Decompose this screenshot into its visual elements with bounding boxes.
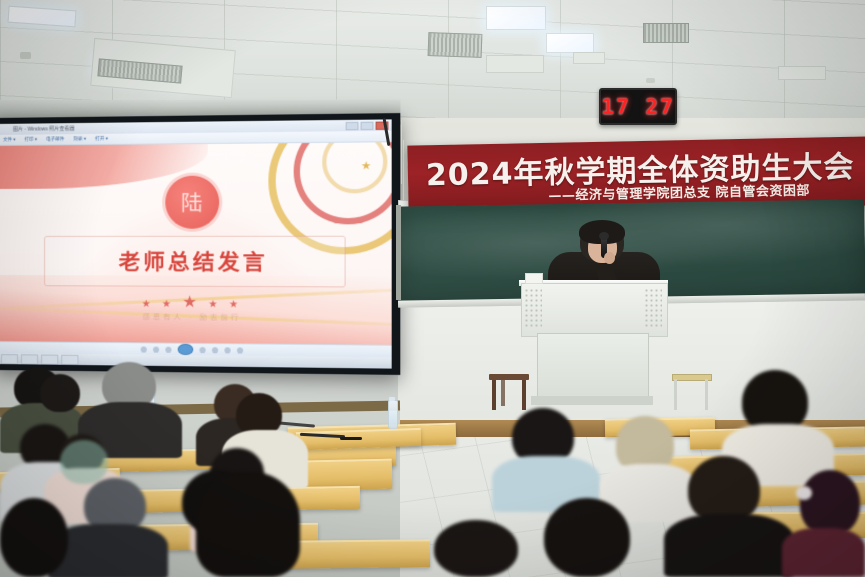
fit-to-window-icon[interactable]	[153, 346, 159, 352]
delete-icon[interactable]	[237, 347, 243, 353]
desk-pen	[340, 437, 362, 440]
podium-base	[531, 396, 653, 405]
menu-item-print[interactable]: 打印 ▾	[25, 137, 38, 143]
slide-badge-char: 陆	[181, 187, 203, 218]
bottle-cap	[389, 397, 395, 401]
window-controls	[346, 122, 389, 131]
desk-row	[280, 539, 430, 569]
slide-corner-star-icon: ★	[361, 159, 372, 173]
chalkboard-left-edge	[396, 205, 401, 300]
ceiling-tile	[778, 66, 826, 80]
rotate-left-icon[interactable]	[212, 347, 218, 353]
metal-frame-stool	[672, 374, 710, 410]
photo-viewer-title: 图片 - Windows 照片查看器	[13, 125, 75, 133]
audience-head	[40, 374, 80, 412]
menu-item-file[interactable]: 文件 ▾	[3, 137, 16, 143]
slideshow-play-button[interactable]	[178, 344, 194, 355]
audience-shoulders	[664, 514, 794, 577]
projected-slide: 图片 - Windows 照片查看器 文件 ▾ 打印 ▾ 电子邮件 刻录 ▾ 打…	[0, 119, 392, 368]
podium-item	[525, 273, 543, 284]
audience-head	[434, 520, 518, 577]
taskbar-item[interactable]	[21, 354, 38, 364]
water-bottle	[388, 400, 398, 429]
podium-speaker-grille	[524, 288, 542, 328]
slide-title: 老师总结发言	[119, 246, 268, 277]
ceiling-light-panel	[486, 6, 546, 30]
podium-lower-panel	[537, 333, 649, 400]
clock-time-digits: 17 27	[601, 95, 674, 119]
smoke-detector	[646, 78, 655, 83]
menu-item-burn[interactable]: 刻录 ▾	[73, 136, 86, 142]
microphone-head	[599, 232, 609, 240]
zoom-icon[interactable]	[141, 346, 147, 352]
ceiling-light-panel	[546, 33, 594, 53]
smoke-detector	[20, 52, 31, 59]
podium-speaker-grille	[644, 288, 662, 328]
slide-canvas: ★ 陆 老师总结发言 ★ ★ ★ ★ ★ 感恩有人 · 励志前行	[0, 142, 392, 346]
projection-screen: 图片 - Windows 照片查看器 文件 ▾ 打印 ▾ 电子邮件 刻录 ▾ 打…	[0, 113, 400, 375]
taskbar-item[interactable]	[61, 354, 78, 364]
slide-section-badge: 陆	[165, 176, 219, 229]
ceiling-air-vent	[428, 32, 483, 58]
menu-item-open[interactable]: 打开 ▾	[95, 136, 108, 142]
stool-leg	[501, 380, 505, 406]
next-icon[interactable]	[199, 346, 205, 352]
stool-leg	[522, 380, 526, 410]
wooden-stool	[489, 374, 529, 410]
audience-head	[0, 498, 68, 577]
minimize-button[interactable]	[346, 122, 359, 130]
audience-head	[196, 472, 300, 577]
menu-item-email[interactable]: 电子邮件	[46, 136, 64, 142]
audience-head	[544, 498, 630, 577]
presenter-hand	[604, 252, 615, 264]
stool-leg	[674, 379, 677, 410]
slide-title-box: 老师总结发言	[45, 236, 346, 288]
ceiling-tile	[573, 52, 605, 64]
hair-tie	[796, 486, 812, 500]
ceiling-air-vent	[643, 23, 689, 43]
hanging-cord	[401, 120, 402, 184]
stool-leg	[492, 380, 496, 410]
stool-leg	[705, 379, 708, 410]
ceiling-tile	[486, 55, 544, 73]
previous-icon[interactable]	[165, 346, 171, 352]
audience-shoulders	[782, 528, 865, 577]
start-button[interactable]	[1, 354, 18, 364]
maximize-button[interactable]	[361, 122, 374, 130]
wall-digital-clock: 17 27	[599, 88, 677, 125]
audience-head	[800, 470, 860, 536]
rotate-right-icon[interactable]	[224, 347, 230, 353]
lecture-hall-photo: 17 27 图片 - Windows 照片查看器 文件 ▾ 打印 ▾ 电子邮件 …	[0, 0, 865, 577]
taskbar-item[interactable]	[41, 354, 58, 364]
audience-head	[60, 440, 108, 484]
